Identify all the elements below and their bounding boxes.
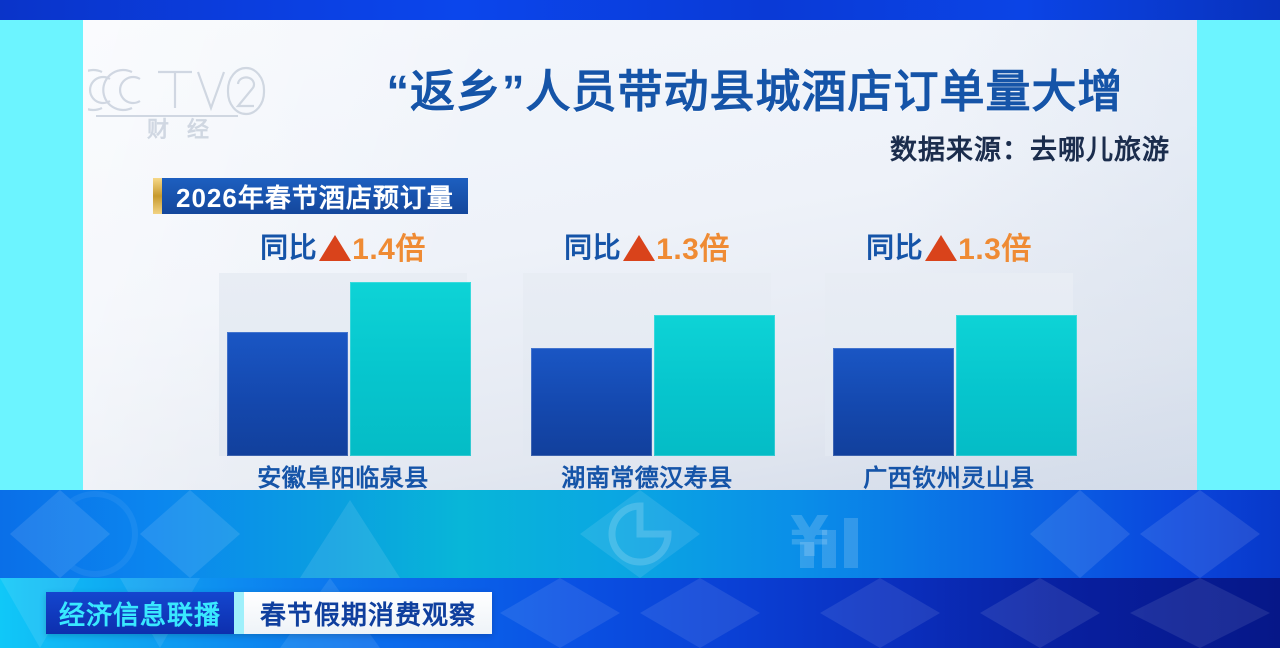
bar-group-1: 同比 1.3倍 湖南常德汉寿县 — [509, 225, 785, 490]
yoy-value: 1.3倍 — [958, 224, 1032, 268]
top-accent-strip — [0, 0, 1280, 20]
lower-third: 经济信息联播 春节假期消费观察 — [46, 592, 492, 634]
bar-current — [956, 315, 1077, 456]
group-bars — [227, 273, 471, 456]
topic-block: 春节假期消费观察 — [244, 592, 492, 634]
svg-text:¥: ¥ — [790, 505, 829, 570]
yoy-value: 1.3倍 — [656, 224, 730, 268]
yoy-prefix: 同比 — [564, 226, 621, 266]
decorative-pattern-band: ¥ — [0, 490, 1280, 578]
subtitle-chip: 2026年春节酒店预订量 — [153, 178, 468, 214]
broadcast-graphic: 财经 “返乡”人员带动县城酒店订单量大增 数据来源：去哪儿旅游 2026年春节酒… — [0, 0, 1280, 648]
bar-group-0: 同比 1.4倍 安徽阜阳临泉县 — [205, 225, 481, 490]
bar-current — [654, 315, 775, 456]
page-title: “返乡”人员带动县城酒店订单量大增 — [340, 55, 1170, 120]
bar-previous — [531, 348, 652, 456]
left-cyan-band — [0, 20, 83, 490]
topic-text: 春节假期消费观察 — [260, 595, 476, 632]
cctv-sublabel: 财经 — [118, 112, 238, 144]
lower-third-divider — [234, 592, 244, 634]
yoy-annotation: 同比 1.3倍 — [811, 225, 1087, 267]
yoy-value: 1.4倍 — [352, 224, 426, 268]
group-bars — [531, 273, 775, 456]
yoy-annotation: 同比 1.3倍 — [509, 225, 785, 267]
bar-previous — [227, 332, 348, 456]
category-label: 湖南常德汉寿县 — [509, 458, 785, 493]
chip-body: 2026年春节酒店预订量 — [162, 178, 468, 214]
bar-current — [350, 282, 471, 456]
triangle-up-icon — [623, 235, 655, 261]
chip-label: 2026年春节酒店预订量 — [176, 178, 454, 215]
triangle-up-icon — [319, 235, 351, 261]
group-bars — [833, 273, 1077, 456]
chip-accent-bar — [153, 178, 162, 214]
yoy-annotation: 同比 1.4倍 — [205, 225, 481, 267]
bar-previous — [833, 348, 954, 456]
right-cyan-band — [1197, 20, 1280, 490]
program-name: 经济信息联播 — [59, 595, 221, 632]
yoy-prefix: 同比 — [260, 226, 317, 266]
yoy-prefix: 同比 — [866, 226, 923, 266]
program-name-block: 经济信息联播 — [46, 592, 234, 634]
category-label: 广西钦州灵山县 — [811, 458, 1087, 493]
bar-group-2: 同比 1.3倍 广西钦州灵山县 — [811, 225, 1087, 490]
bar-chart: 同比 1.4倍 安徽阜阳临泉县 同比 1.3倍 湖南常德汉寿县 — [83, 225, 1197, 490]
category-label: 安徽阜阳临泉县 — [205, 458, 481, 493]
triangle-up-icon — [925, 235, 957, 261]
data-source-label: 数据来源：去哪儿旅游 — [340, 128, 1170, 167]
